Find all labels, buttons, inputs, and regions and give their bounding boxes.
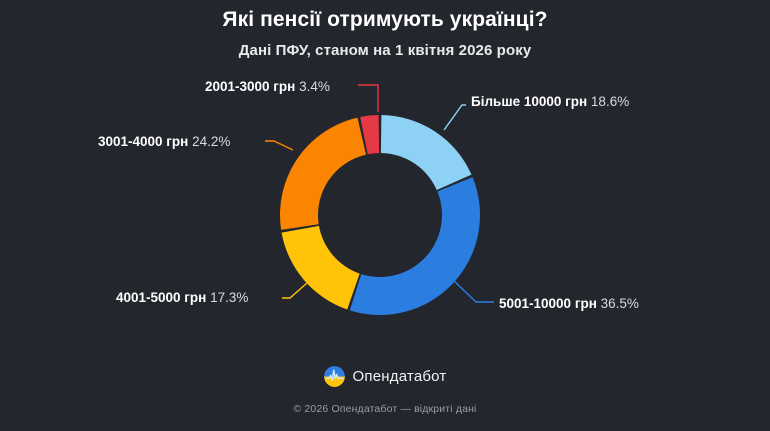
slice-5001-10000[interactable]	[350, 177, 480, 315]
leader-line-5001-10000	[452, 279, 494, 302]
slice-label-percent: 24.2%	[192, 134, 230, 149]
page-title: Які пенсії отримують українці?	[0, 8, 770, 32]
slice-label-category: Більше 10000 грн	[471, 94, 587, 109]
slice-label-category: 5001-10000 грн	[499, 296, 597, 311]
brand-footer: Опендатабот	[0, 366, 770, 387]
slice-label-5001-10000: 5001-10000 грн 36.5%	[499, 297, 639, 311]
slice-label-category: 4001-5000 грн	[116, 290, 206, 305]
slice-label-percent: 36.5%	[601, 296, 639, 311]
slice-2001-3000[interactable]	[360, 115, 379, 154]
slice-4001-5000[interactable]	[282, 226, 360, 310]
page-subtitle: Дані ПФУ, станом на 1 квітня 2026 року	[0, 42, 770, 59]
slice-label-percent: 17.3%	[210, 290, 248, 305]
slice-label-4001-5000: 4001-5000 грн 17.3%	[116, 291, 248, 305]
slice-label-category: 2001-3000 грн	[205, 79, 295, 94]
slice-3001-4000[interactable]	[280, 118, 366, 230]
leader-line-more-10000	[444, 105, 466, 130]
slice-label-more-10000: Більше 10000 грн 18.6%	[471, 95, 629, 109]
slice-more-10000[interactable]	[381, 115, 472, 190]
slice-label-2001-3000: 2001-3000 грн 3.4%	[205, 80, 330, 94]
leader-line-2001-3000	[358, 85, 378, 112]
slice-label-percent: 3.4%	[299, 79, 330, 94]
brand-name: Опендатабот	[353, 368, 447, 385]
leader-line-3001-4000	[265, 141, 293, 150]
leader-line-4001-5000	[282, 283, 307, 298]
slice-label-3001-4000: 3001-4000 грн 24.2%	[98, 135, 230, 149]
infographic-canvas: Які пенсії отримують українці? Дані ПФУ,…	[0, 0, 770, 431]
slice-label-percent: 18.6%	[591, 94, 629, 109]
opendatabot-logo-icon	[324, 366, 345, 387]
slice-label-category: 3001-4000 грн	[98, 134, 188, 149]
copyright-text: © 2026 Опендатабот — відкриті дані	[0, 403, 770, 415]
